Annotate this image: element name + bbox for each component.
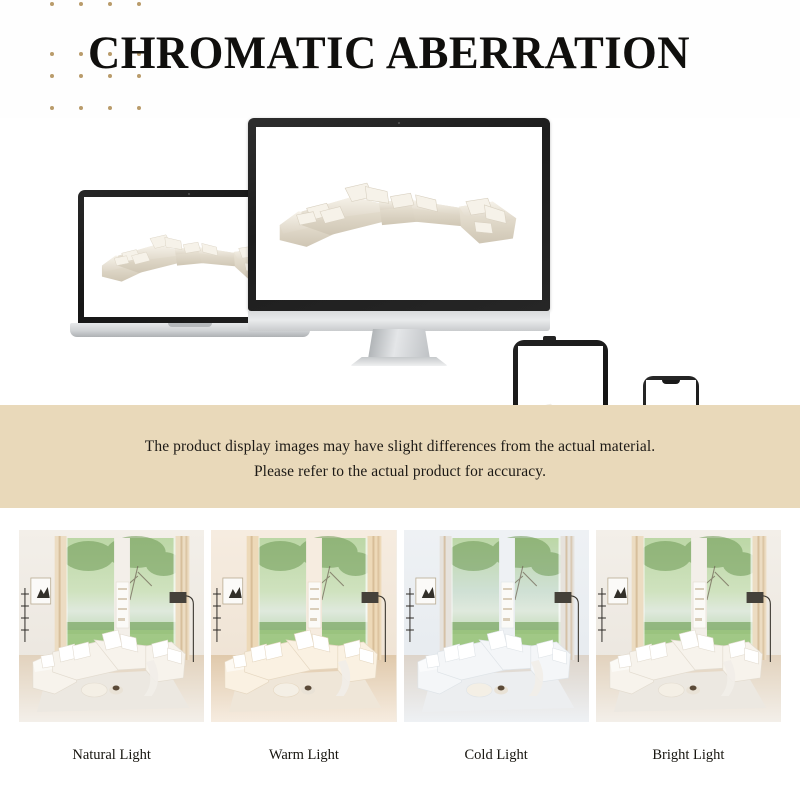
page-title: CHROMATIC ABERRATION [88, 24, 690, 82]
monitor-stand-foot [350, 357, 448, 366]
lighting-label-2: Cold Light [404, 745, 589, 765]
decor-dot [50, 52, 54, 56]
decor-dot [50, 74, 54, 78]
lighting-thumbnails [19, 530, 781, 722]
lighting-labels: Natural LightWarm LightCold LightBright … [19, 745, 781, 765]
decor-dot [79, 74, 83, 78]
lighting-thumbnail-bright-light[interactable] [596, 530, 781, 722]
decor-dot [108, 106, 112, 110]
monitor-screen [256, 127, 542, 300]
lighting-label-0: Natural Light [19, 745, 204, 765]
page-header: CHROMATIC ABERRATION [0, 0, 800, 118]
camera-icon [398, 122, 400, 124]
lighting-thumbnail-natural-light[interactable] [19, 530, 204, 722]
disclaimer-line-2: Please refer to the actual product for a… [254, 459, 546, 484]
lighting-label-3: Bright Light [596, 745, 781, 765]
disclaimer-line-1: The product display images may have slig… [145, 434, 655, 459]
camera-icon [188, 193, 190, 195]
monitor-bezel [248, 118, 550, 311]
lighting-label-1: Warm Light [211, 745, 396, 765]
decor-dot [137, 2, 141, 6]
monitor-chin [248, 311, 550, 331]
decor-dot [108, 2, 112, 6]
disclaimer-banner: The product display images may have slig… [0, 405, 800, 508]
phone-notch [662, 380, 680, 384]
lighting-thumbnail-warm-light[interactable] [211, 530, 396, 722]
decor-dot [79, 52, 83, 56]
device-mockup-group [0, 118, 800, 405]
sofa-product-image [256, 127, 542, 300]
decor-dot [50, 2, 54, 6]
device-monitor [248, 118, 550, 368]
monitor-stand-stem [368, 329, 430, 359]
laptop-hinge-notch [168, 323, 212, 327]
lighting-thumbnail-cold-light[interactable] [404, 530, 589, 722]
lighting-comparison-strip: Natural LightWarm LightCold LightBright … [0, 520, 800, 800]
decor-dot [137, 106, 141, 110]
decor-dot [79, 2, 83, 6]
decor-dot [79, 106, 83, 110]
decor-dot [50, 106, 54, 110]
